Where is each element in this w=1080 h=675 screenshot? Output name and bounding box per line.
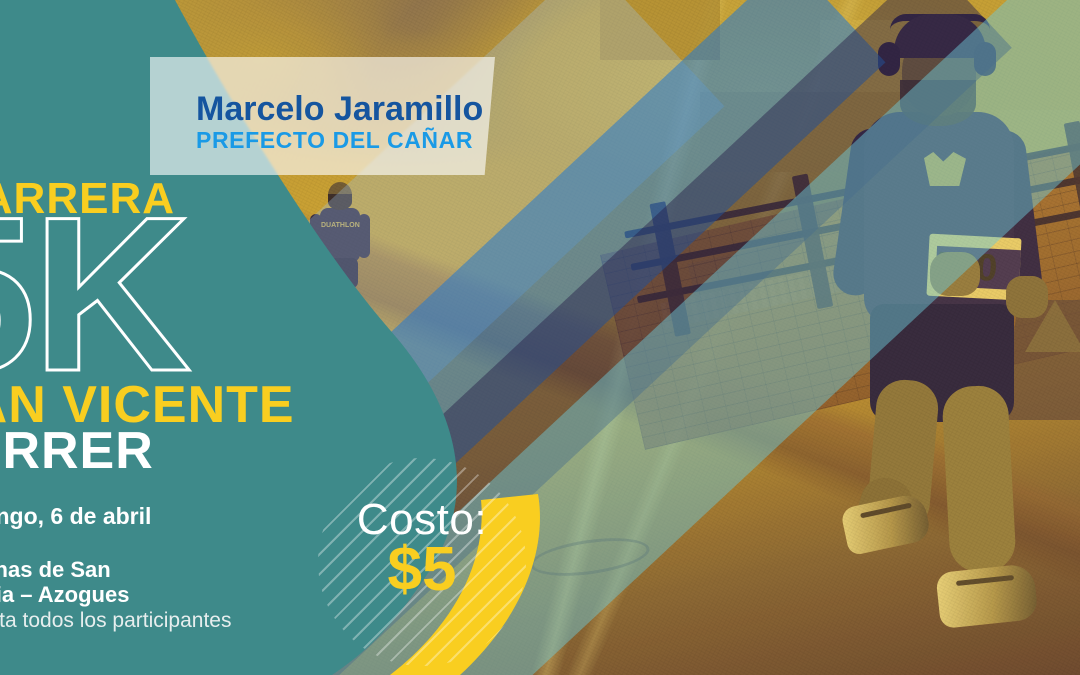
cost-badge-price: $5 [332, 538, 512, 602]
event-location-line-2: Bolivia – Azogues [0, 582, 129, 608]
event-location-line-1: Lagunas de San [0, 557, 111, 583]
race-promo-poster: DUATHLON 590 [0, 0, 1080, 675]
event-date: Domingo, 6 de abril [0, 503, 151, 529]
event-name-line-2: FERRER [0, 424, 154, 478]
distance-headline: 5K [0, 196, 187, 392]
official-role: PREFECTO DEL CAÑAR [196, 127, 473, 153]
event-note: Camiseta todos los participantes [0, 608, 232, 634]
official-name: Marcelo Jaramillo [196, 90, 483, 128]
